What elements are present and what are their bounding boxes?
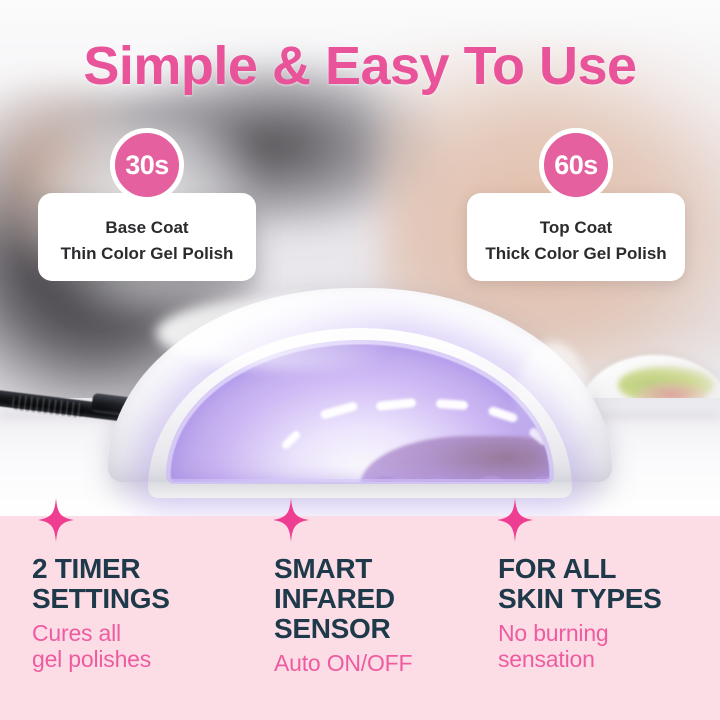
page-title: Simple & Easy To Use bbox=[0, 36, 720, 96]
callout-time-badge: 60s bbox=[539, 128, 613, 202]
led-highlight bbox=[280, 429, 301, 450]
uv-led-nail-lamp bbox=[108, 288, 612, 482]
sparkle-icon bbox=[497, 498, 533, 542]
feature-infrared-sensor: SMARTINFAREDSENSOR Auto ON/OFF bbox=[246, 516, 470, 720]
sparkle-icon bbox=[38, 498, 74, 542]
callout-card: Top Coat Thick Color Gel Polish bbox=[467, 193, 685, 281]
feature-timer-settings: 2 TIMERSETTINGS Cures allgel polishes bbox=[0, 516, 246, 720]
sparkle-icon bbox=[273, 498, 309, 542]
callout-time-badge: 30s bbox=[110, 128, 184, 202]
callout-line2: Thin Color Gel Polish bbox=[44, 241, 250, 267]
led-highlight bbox=[487, 406, 518, 424]
callout-line1: Base Coat bbox=[44, 215, 250, 241]
feature-list: 2 TIMERSETTINGS Cures allgel polishes SM… bbox=[0, 516, 720, 720]
infographic-page: Simple & Easy To Use Base Coat Thin Colo… bbox=[0, 0, 720, 720]
feature-subtext: Cures allgel polishes bbox=[32, 620, 246, 672]
led-highlight bbox=[376, 398, 417, 411]
feature-heading: SMARTINFAREDSENSOR bbox=[274, 554, 470, 644]
feature-subtext: Auto ON/OFF bbox=[274, 650, 470, 676]
feature-subtext: No burningsensation bbox=[498, 620, 720, 672]
callout-line2: Thick Color Gel Polish bbox=[473, 241, 679, 267]
callout-line1: Top Coat bbox=[473, 215, 679, 241]
callout-card: Base Coat Thin Color Gel Polish bbox=[38, 193, 256, 281]
lamp-gloss-highlight bbox=[156, 296, 456, 370]
hand-under-lamp bbox=[350, 436, 550, 482]
led-highlight bbox=[319, 401, 358, 420]
hand-knuckles bbox=[360, 436, 550, 482]
feature-heading: FOR ALLSKIN TYPES bbox=[498, 554, 720, 614]
lamp-gloss-highlight-right bbox=[516, 342, 590, 462]
feature-all-skin-types: FOR ALLSKIN TYPES No burningsensation bbox=[470, 516, 720, 720]
led-highlight bbox=[436, 399, 469, 410]
feature-heading: 2 TIMERSETTINGS bbox=[32, 554, 246, 614]
